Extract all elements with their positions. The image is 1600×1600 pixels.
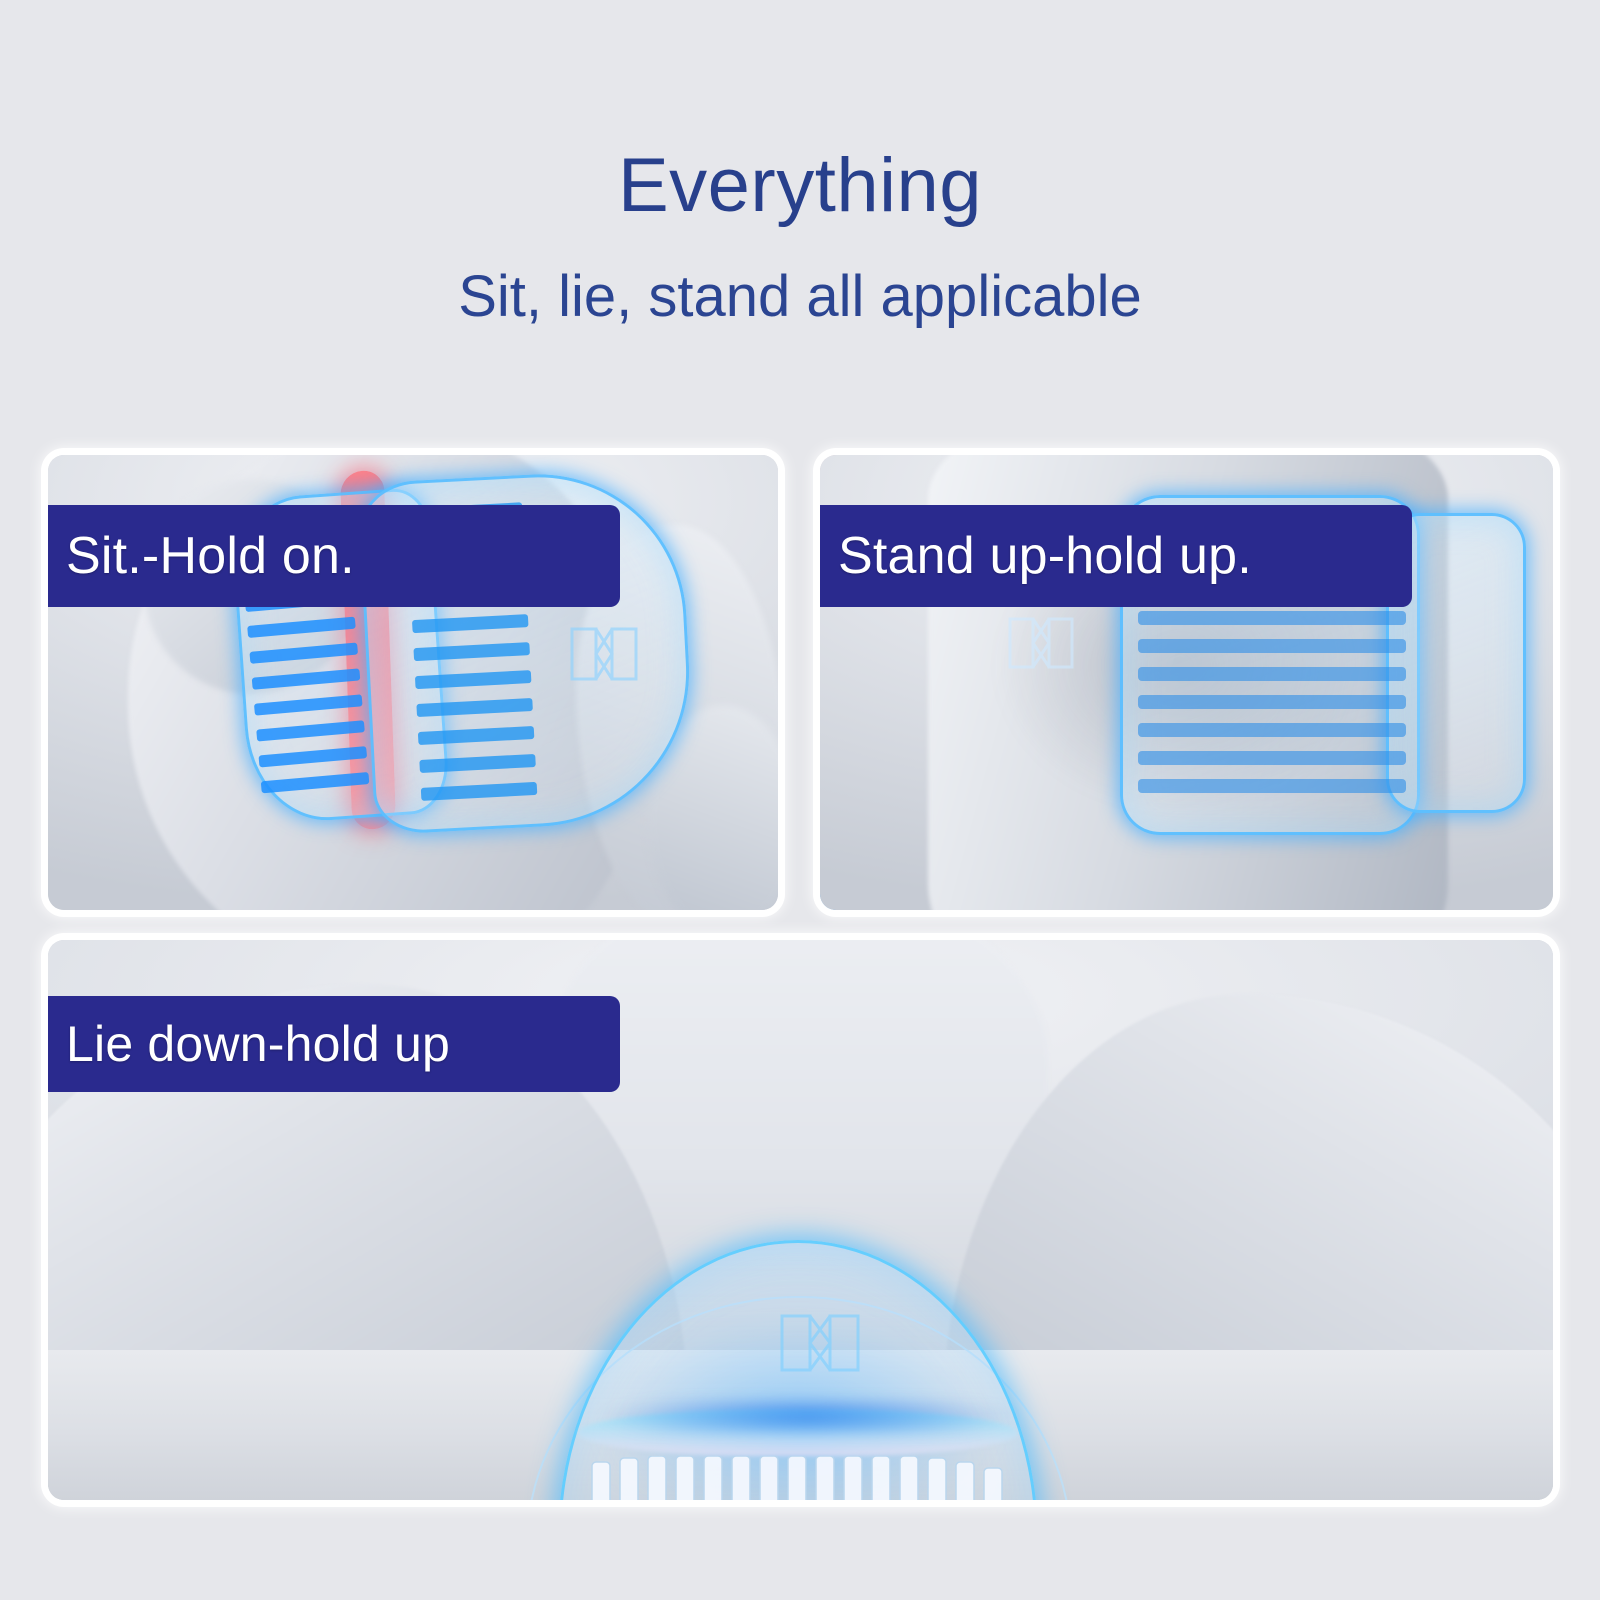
bowtie-logo-svg	[778, 1312, 862, 1374]
panel-lie-caption-text: Lie down-hold up	[66, 1015, 450, 1073]
page-subtitle: Sit, lie, stand all applicable	[0, 268, 1600, 326]
bowtie-logo-icon	[568, 625, 640, 683]
bowtie-logo-icon	[1006, 615, 1076, 671]
panel-lie[interactable]: Lie down-hold up	[48, 940, 1553, 1500]
panel-lie-caption: Lie down-hold up	[48, 996, 620, 1092]
bowtie-logo-svg	[1006, 615, 1076, 671]
page-title: Everything	[0, 148, 1600, 224]
panel-stand[interactable]: Stand up-hold up.	[820, 455, 1553, 910]
support-rib-set-svg	[588, 1456, 1018, 1500]
brace-support-ribs	[588, 1456, 1018, 1500]
panel-stand-caption-text: Stand up-hold up.	[838, 526, 1252, 586]
floor-glow	[528, 1400, 1088, 1434]
panel-grid: Sit.-Hold on.	[48, 455, 1553, 1500]
panel-stand-caption: Stand up-hold up.	[820, 505, 1412, 607]
panel-sit-caption-text: Sit.-Hold on.	[66, 526, 355, 586]
bowtie-logo-icon	[778, 1312, 862, 1374]
panel-sit-caption: Sit.-Hold on.	[48, 505, 620, 607]
bowtie-logo-svg	[568, 625, 640, 683]
header: Everything Sit, lie, stand all applicabl…	[0, 0, 1600, 326]
panel-sit[interactable]: Sit.-Hold on.	[48, 455, 778, 910]
